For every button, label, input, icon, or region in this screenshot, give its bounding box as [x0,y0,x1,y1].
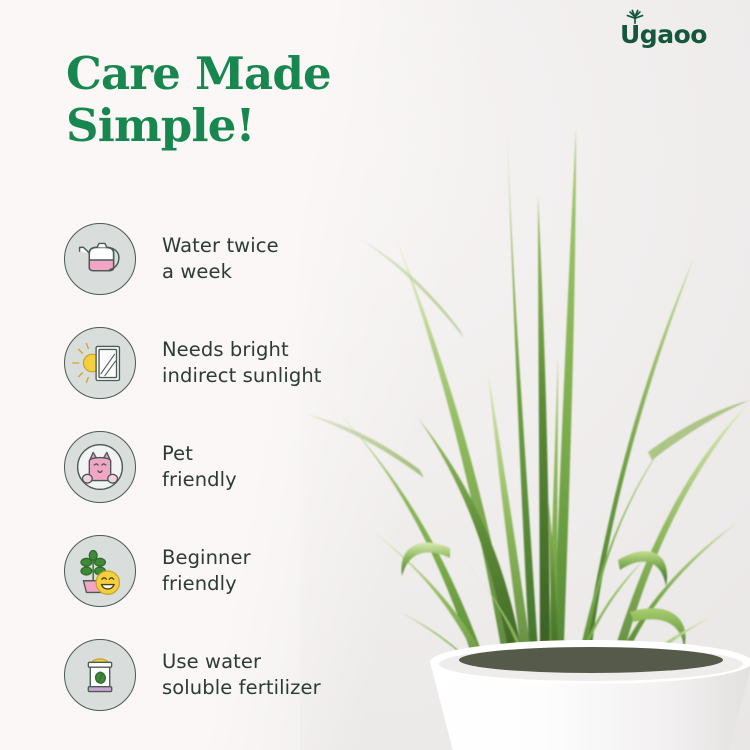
watering-can-icon [64,223,136,295]
feature-row-water: Water twice a week [64,207,394,311]
feature-row-fertilizer: Use water soluble fertilizer [64,623,394,727]
feature-label: Pet friendly [162,441,237,493]
fertilizer-bag-icon [64,639,136,711]
page-title: Care Made Simple! [66,48,366,152]
brand-name: Ugaoo [620,22,732,47]
feature-row-beginner: Beginner friendly [64,519,394,623]
feature-label: Needs bright indirect sunlight [162,337,322,389]
sun-window-icon [64,327,136,399]
potted-plant-smiley-icon [64,535,136,607]
feature-row-pet: Pet friendly [64,415,394,519]
feature-row-sunlight: Needs bright indirect sunlight [64,311,394,415]
feature-label: Water twice a week [162,233,279,285]
feature-label: Beginner friendly [162,545,251,597]
cat-face-icon [64,431,136,503]
sprout-icon [624,8,646,24]
brand-logo: Ugaoo [620,22,732,47]
care-feature-list: Water twice a week [64,207,394,727]
care-guide-graphic: Ugaoo Care Made Simple! [0,0,750,750]
feature-label: Use water soluble fertilizer [162,649,321,701]
